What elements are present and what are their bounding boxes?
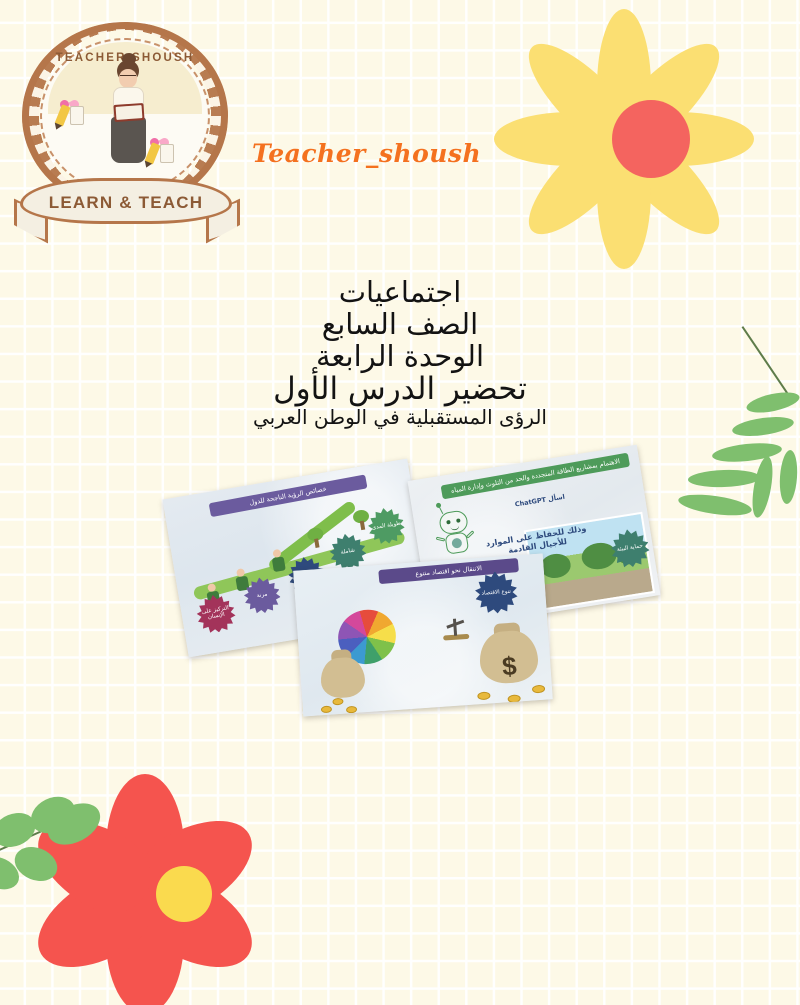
logo-ribbon-text: LEARN & TEACH	[23, 193, 229, 213]
oil-rig-icon	[442, 617, 469, 641]
slide-thumbnail-economy[interactable]: $ الانتقال نحو اقتصاد متنوع تنوع الاقتصا…	[293, 553, 553, 716]
title-line-subject: اجتماعيات	[0, 278, 800, 310]
title-line-lesson: تحضير الدرس الأول	[0, 374, 800, 407]
flower-center	[156, 866, 212, 922]
money-bag-coins	[319, 648, 367, 703]
title-line-unit: الوحدة الرابعة	[0, 342, 800, 374]
yellow-daisy-flower	[506, 0, 796, 284]
poster-canvas: TEACHER SHOUSH LEARN & TEACH Teacher_sho…	[0, 0, 800, 1005]
pencil-paper-icon-right	[148, 138, 178, 164]
teacher-illustration	[106, 60, 150, 164]
pencil-paper-icon-left	[58, 100, 88, 126]
book-icon	[113, 103, 144, 122]
dollar-sign: $	[479, 649, 539, 684]
money-bag-dollar: $	[477, 621, 539, 691]
brand-handle-text: Teacher_shoush	[252, 139, 481, 168]
poster-title-block: اجتماعيات الصف السابع الوحدة الرابعة تحض…	[0, 278, 800, 427]
title-line-topic: الرؤى المستقبلية في الوطن العربي	[0, 407, 800, 427]
brand-logo: TEACHER SHOUSH LEARN & TEACH	[14, 18, 240, 246]
title-line-grade: الصف السابع	[0, 310, 800, 342]
slide-collage: خصائص الرؤية الناجحة للدول التركيز على ا…	[170, 462, 650, 722]
flower-center	[612, 100, 690, 178]
single-leaf-decoration	[46, 806, 110, 858]
logo-ribbon-banner: LEARN & TEACH	[20, 178, 232, 224]
